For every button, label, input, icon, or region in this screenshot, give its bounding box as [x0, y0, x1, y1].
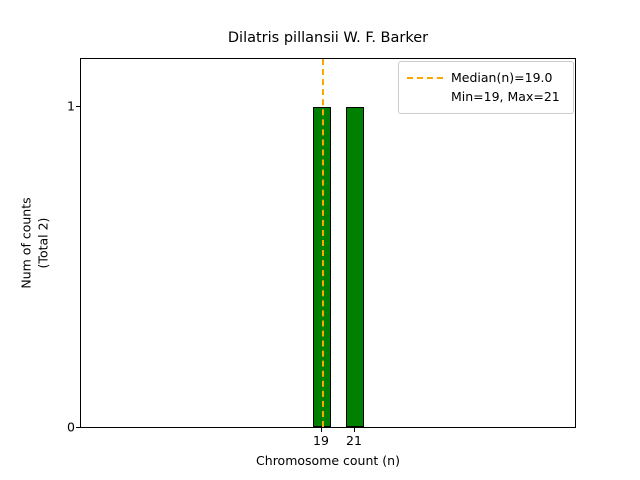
legend-item-median: Median(n)=19.0	[407, 68, 565, 87]
dashed-line-icon	[407, 77, 443, 79]
bar-21	[346, 107, 364, 427]
chart-title: Dilatris pillansii W. F. Barker	[80, 30, 576, 46]
y-axis-label-line2: (Total 2)	[35, 197, 52, 288]
legend-label-median: Median(n)=19.0	[451, 70, 552, 85]
y-axis-label-wrap: Num of counts (Total 2)	[0, 58, 70, 428]
legend-item-minmax: Min=19, Max=21	[407, 87, 565, 106]
xtick-label-19: 19	[313, 433, 329, 448]
legend-label-minmax: Min=19, Max=21	[451, 89, 560, 104]
chart-figure: Dilatris pillansii W. F. Barker 19 21 1 …	[0, 0, 640, 480]
xtick-label-21: 21	[346, 433, 362, 448]
chart-legend: Median(n)=19.0 Min=19, Max=21	[398, 61, 574, 114]
ytick-mark-1	[76, 106, 80, 107]
ytick-mark-0	[76, 427, 80, 428]
xtick-mark-19	[321, 428, 322, 432]
xtick-mark-21	[354, 428, 355, 432]
y-axis-label: Num of counts (Total 2)	[19, 197, 52, 288]
x-axis-label: Chromosome count (n)	[80, 453, 576, 468]
median-line	[322, 59, 324, 427]
y-axis-label-line1: Num of counts	[19, 197, 36, 288]
